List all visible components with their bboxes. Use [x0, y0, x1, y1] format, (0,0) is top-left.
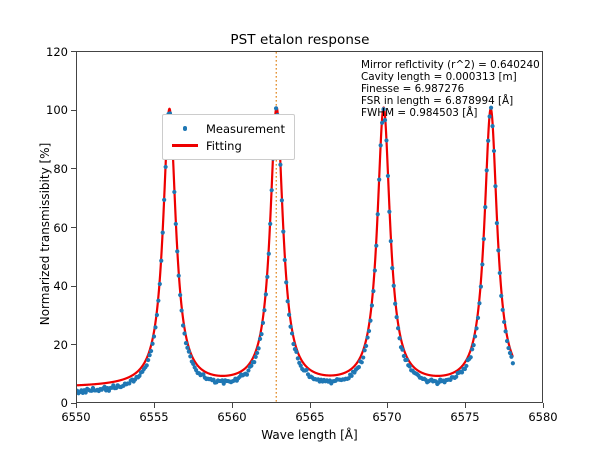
measurement-point: [258, 337, 262, 341]
measurement-point: [184, 341, 188, 345]
measurement-point: [185, 346, 189, 350]
measurement-point: [174, 222, 178, 226]
legend-label-fitting: Fitting: [200, 139, 242, 153]
measurement-point: [368, 319, 372, 323]
measurement-point: [490, 124, 494, 128]
measurement-point: [182, 331, 186, 335]
legend-label-measurement: Measurement: [200, 122, 285, 136]
measurement-point: [153, 325, 157, 329]
measurement-point: [261, 321, 265, 325]
measurement-point: [149, 349, 153, 353]
measurement-points-group: [77, 106, 515, 396]
measurement-point: [480, 262, 484, 266]
figure-canvas: PST etalon response 120 100 80 60 40 20 …: [0, 0, 600, 450]
measurement-point: [374, 244, 378, 248]
measurement-point: [264, 292, 268, 296]
measurement-point: [370, 303, 374, 307]
measurement-point: [402, 354, 406, 358]
xtick-label-6565: 6565: [280, 410, 340, 424]
measurement-point: [152, 334, 156, 338]
measurement-point: [361, 355, 365, 359]
measurement-point: [504, 329, 508, 333]
measurement-point: [392, 284, 396, 288]
measurement-point: [367, 329, 371, 333]
measurement-point: [156, 299, 160, 303]
measurement-point: [373, 268, 377, 272]
measurement-point: [499, 294, 503, 298]
measurement-point: [501, 308, 505, 312]
measurement-point: [274, 106, 278, 110]
measurement-point: [464, 364, 468, 368]
measurement-point: [283, 258, 287, 262]
measurement-point: [159, 259, 163, 263]
measurement-point: [158, 282, 162, 286]
legend-item-measurement: Measurement: [170, 120, 285, 137]
measurement-point: [291, 342, 295, 346]
measurement-point: [495, 221, 499, 225]
measurement-point: [259, 332, 263, 336]
measurement-point: [265, 275, 269, 279]
page-title: PST etalon response: [0, 32, 600, 48]
annotation-line-fsr: FSR in length = 6.878994 [Å]: [361, 96, 540, 108]
measurement-point: [164, 165, 168, 169]
measurement-point: [485, 168, 489, 172]
measurement-point: [268, 222, 272, 226]
measurement-point: [505, 339, 509, 343]
legend: Measurement Fitting: [162, 114, 295, 160]
measurement-point: [178, 293, 182, 297]
annotation-line-fwhm: FWHM = 0.984503 [Å]: [361, 108, 540, 120]
measurement-point: [155, 313, 159, 317]
measurement-point: [364, 344, 368, 348]
measurement-point: [175, 249, 179, 253]
measurement-point: [511, 361, 515, 365]
measurement-point: [454, 375, 458, 379]
measurement-point: [262, 308, 266, 312]
measurement-point: [498, 271, 502, 275]
measurement-point: [502, 320, 506, 324]
measurement-point: [288, 325, 292, 329]
measurement-point: [162, 198, 166, 202]
measurement-point: [146, 358, 150, 362]
measurement-point: [377, 178, 381, 182]
measurement-point: [389, 239, 393, 243]
measurement-point: [150, 342, 154, 346]
measurement-point: [469, 355, 473, 359]
measurement-point: [470, 347, 474, 351]
xtick-label-6580: 6580: [513, 410, 573, 424]
legend-line-icon: [170, 144, 200, 146]
measurement-point: [280, 198, 284, 202]
legend-dot-icon: [170, 126, 200, 131]
fit-parameters-annotation: Mirror reflctivity (r^2) = 0.640240 Cavi…: [361, 60, 540, 120]
measurement-point: [397, 336, 401, 340]
measurement-point: [474, 326, 478, 330]
measurement-point: [486, 139, 490, 143]
measurement-point: [365, 335, 369, 339]
measurement-point: [177, 274, 181, 278]
measurement-point: [350, 374, 354, 378]
measurement-point: [172, 190, 176, 194]
measurement-point: [357, 365, 361, 369]
x-axis-title: Wave length [Å]: [76, 428, 543, 442]
measurement-point: [278, 163, 282, 167]
xtick-label-6555: 6555: [124, 410, 184, 424]
measurement-point: [246, 368, 250, 372]
measurement-point: [396, 326, 400, 330]
measurement-point: [180, 308, 184, 312]
annotation-line-finesse: Finesse = 6.987276: [361, 84, 540, 96]
measurement-point: [387, 210, 391, 214]
measurement-point: [245, 373, 249, 377]
measurement-point: [390, 266, 394, 270]
measurement-point: [472, 343, 476, 347]
measurement-point: [408, 364, 412, 368]
measurement-point: [460, 370, 464, 374]
measurement-point: [379, 143, 383, 147]
xtick-label-6560: 6560: [202, 410, 262, 424]
measurement-point: [267, 252, 271, 256]
xtick-label-6570: 6570: [357, 410, 417, 424]
measurement-point: [286, 299, 290, 303]
measurement-point: [270, 188, 274, 192]
measurement-point: [161, 231, 165, 235]
measurement-point: [284, 280, 288, 284]
measurement-point: [482, 237, 486, 241]
measurement-point: [506, 346, 510, 350]
measurement-point: [483, 205, 487, 209]
measurement-point: [395, 315, 399, 319]
measurement-point: [479, 284, 483, 288]
measurement-point: [294, 350, 298, 354]
measurement-point: [290, 331, 294, 335]
ytick-label-120: 120: [8, 45, 68, 59]
xtick-label-6575: 6575: [435, 410, 495, 424]
measurement-point: [257, 346, 261, 350]
measurement-point: [477, 301, 481, 305]
measurement-point: [254, 355, 258, 359]
measurement-point: [493, 184, 497, 188]
measurement-point: [181, 323, 185, 327]
measurement-point: [360, 360, 364, 364]
measurement-point: [393, 302, 397, 306]
measurement-point: [304, 368, 308, 372]
measurement-point: [252, 360, 256, 364]
measurement-point: [188, 354, 192, 358]
measurement-point: [187, 350, 191, 354]
measurement-point: [473, 334, 477, 338]
measurement-point: [384, 138, 388, 142]
measurement-point: [287, 313, 291, 317]
measurement-point: [476, 316, 480, 320]
measurement-point: [145, 363, 149, 367]
measurement-point: [400, 348, 404, 352]
measurement-point: [496, 248, 500, 252]
measurement-point: [296, 356, 300, 360]
measurement-point: [148, 353, 152, 357]
measurement-point: [386, 174, 390, 178]
legend-item-fitting: Fitting: [170, 137, 285, 154]
measurement-point: [405, 358, 409, 362]
measurement-point: [363, 348, 367, 352]
measurement-point: [508, 351, 512, 355]
measurement-point: [281, 229, 285, 233]
measurement-point: [255, 351, 259, 355]
measurement-point: [376, 212, 380, 216]
measurement-point: [492, 149, 496, 153]
measurement-point: [371, 289, 375, 293]
y-axis-title: Normarized transmissibity [%]: [38, 58, 52, 410]
measurement-point: [509, 355, 513, 359]
xtick-label-6550: 6550: [46, 410, 106, 424]
